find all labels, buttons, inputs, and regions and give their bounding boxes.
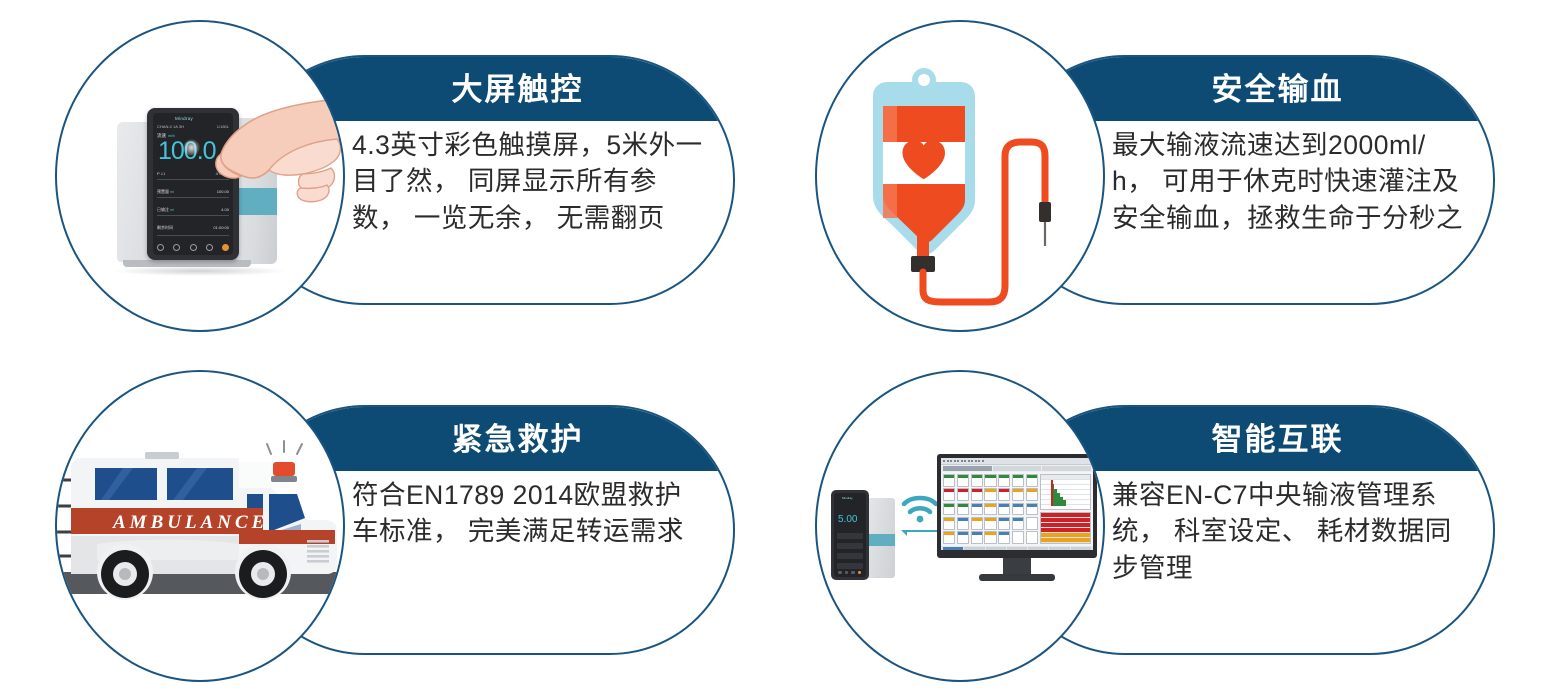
card-title: 安全输血: [1212, 74, 1344, 105]
central-management-screen: [941, 458, 1093, 550]
device-pressure-label: P: [157, 171, 160, 176]
card-body-text: 符合EN1789 2014欧盟救护车标准， 完美满足转运需求: [352, 477, 707, 550]
icon-circle: Mindray CHAN-0 1A 3H 1/180L 流速ml/h 100.0…: [55, 20, 345, 332]
card-body-text: 最大输液流速达到2000ml/h， 可用于休克时快速灌注及安全输血，拯救生命于分…: [1112, 127, 1467, 236]
icon-circle: AMBULANCE: [55, 370, 345, 682]
ambulance-icon: AMBULANCE: [57, 372, 343, 680]
card-body-text: 兼容EN-C7中央输液管理系统， 科室设定、 耗材数据同步管理: [1112, 477, 1467, 586]
blood-bag-heart-icon: [817, 22, 1103, 330]
device-row-label: 预置量: [157, 189, 169, 194]
card-title: 大屏触控: [452, 74, 584, 105]
device-pressure-sub: J.1: [161, 172, 166, 176]
start-stop-icon: [222, 244, 229, 251]
hand-pointing-icon: [213, 96, 345, 226]
monitor-icon: [937, 454, 1097, 584]
menu-icon: [173, 244, 180, 251]
feature-card-safe-transfusion: 安全输血 最大输液流速达到2000ml/h， 可用于休克时快速灌注及安全输血，拯…: [805, 10, 1520, 340]
mini-infusion-pump-icon: Mindray 5.00: [831, 490, 895, 582]
device-row-label: 已输注: [157, 207, 169, 212]
device-button-row: [157, 244, 229, 251]
device-row-unit: ml: [170, 190, 174, 194]
mini-pump-rate-value: 5.00: [838, 515, 857, 525]
feature-card-emergency-rescue: 紧急救护 符合EN1789 2014欧盟救护车标准， 完美满足转运需求: [45, 360, 760, 690]
power-icon: [157, 244, 164, 251]
device-row-unit: ml: [170, 208, 174, 212]
card-title: 智能互联: [1212, 424, 1344, 455]
device-row-label: 剩余时间: [157, 225, 173, 231]
card-title: 紧急救护: [452, 424, 584, 455]
monitor-wifi-pump-icon: Mindray 5.00: [817, 372, 1103, 680]
icon-circle: Mindray 5.00: [815, 370, 1105, 682]
feature-card-large-touchscreen: 大屏触控 4.3英寸彩色触摸屏，5米外一目了然， 同屏显示所有参数， 一览无余，…: [45, 10, 760, 340]
card-body-text: 4.3英寸彩色触摸屏，5米外一目了然， 同屏显示所有参数， 一览无余， 无需翻页: [352, 127, 707, 236]
icon-circle: [815, 20, 1105, 332]
feature-card-grid: 大屏触控 4.3英寸彩色触摸屏，5米外一目了然， 同屏显示所有参数， 一览无余，…: [0, 0, 1550, 699]
infusion-pump-touch-icon: Mindray CHAN-0 1A 3H 1/180L 流速ml/h 100.0…: [57, 22, 343, 330]
touch-ripple-icon: [183, 139, 200, 156]
device-status-line: CHAN-0 1A 3H: [157, 124, 184, 129]
ambulance-label: AMBULANCE: [112, 512, 268, 533]
device-brand: Mindray: [175, 116, 193, 121]
settings-icon: [190, 244, 197, 251]
feature-card-smart-connectivity: 智能互联 兼容EN-C7中央输液管理系统， 科室设定、 耗材数据同步管理 Min…: [805, 360, 1520, 690]
mute-icon: [206, 244, 213, 251]
